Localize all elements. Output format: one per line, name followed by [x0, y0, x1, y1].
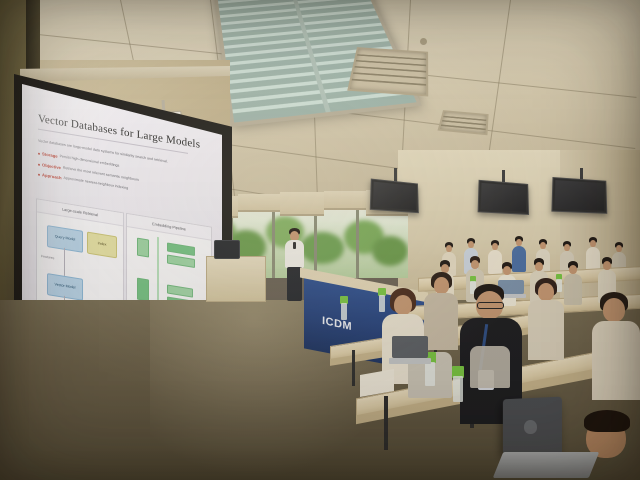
diagram-flow-bar-2: [167, 242, 195, 256]
slide-bullet-list: Storage Persist high-dimensional embeddi…: [38, 151, 210, 210]
bullet-label: Approach: [42, 172, 62, 180]
diagram-node-query-model: Query Model: [47, 225, 83, 253]
desk-leg: [352, 350, 355, 386]
bullet-dot-icon: [38, 163, 40, 165]
diagram-flow-bar-5: [167, 284, 193, 297]
attendee-top: [592, 321, 640, 400]
window-blind-4[interactable]: [324, 191, 366, 210]
water-bottle-front-2: [452, 366, 464, 402]
bullet-dot-icon: [38, 153, 40, 155]
chair-2: [470, 346, 510, 388]
diagram-node-index: Index: [87, 232, 117, 259]
lecture-hall-photo: Vector Databases for Large Models Vector…: [0, 0, 640, 480]
attendee-right-edge: [592, 292, 640, 400]
presenter-microphone-icon: [293, 242, 296, 249]
attendee-top: [424, 293, 458, 350]
window-blind-2[interactable]: [238, 194, 280, 212]
attendee-head: [394, 295, 412, 315]
podium-monitor: [214, 240, 240, 259]
bullet-label: Objective: [42, 162, 61, 170]
desk-leg: [384, 396, 388, 450]
tv-mount-1: [394, 168, 397, 182]
diagram-flow-bar-1: [137, 238, 149, 258]
attendee-hair: [584, 410, 630, 432]
water-bottle-front-4: [378, 288, 386, 312]
diagram-right-title: Embedding Pipeline: [127, 214, 211, 241]
ceiling-monitor-2: [478, 180, 529, 215]
diagram-left-title: Large-scale Retrieval: [37, 199, 123, 226]
foreground-laptop-base: [493, 452, 600, 478]
diagram-side-label-features: Features: [41, 254, 54, 260]
hvac-diffuser-1: [347, 47, 428, 96]
attendee-woman-3: [528, 278, 564, 360]
diagram-flow-bar-4: [137, 278, 149, 302]
podium: [206, 256, 266, 302]
eyeglasses-icon: [477, 302, 504, 309]
attendee-head: [603, 298, 625, 322]
bullet-dot-icon: [38, 174, 40, 176]
attendee-top: [528, 300, 564, 360]
apple-logo-icon: [524, 420, 537, 434]
ceiling-monitor-1: [370, 179, 419, 214]
diagram-flow-bar-3: [167, 254, 195, 268]
water-bottle-front-3: [340, 296, 348, 320]
laptop-front-1: [392, 336, 428, 364]
attendee-woman-2: [424, 272, 458, 350]
attendee-head: [434, 277, 449, 294]
diagram-node-vector-model: Vector Model: [47, 273, 83, 301]
bullet-label: Storage: [42, 151, 58, 159]
sprinkler-head-icon: [420, 38, 427, 45]
window-blind-3[interactable]: [280, 192, 324, 216]
attendee-head: [538, 283, 554, 301]
ceiling-monitor-3: [551, 177, 607, 214]
